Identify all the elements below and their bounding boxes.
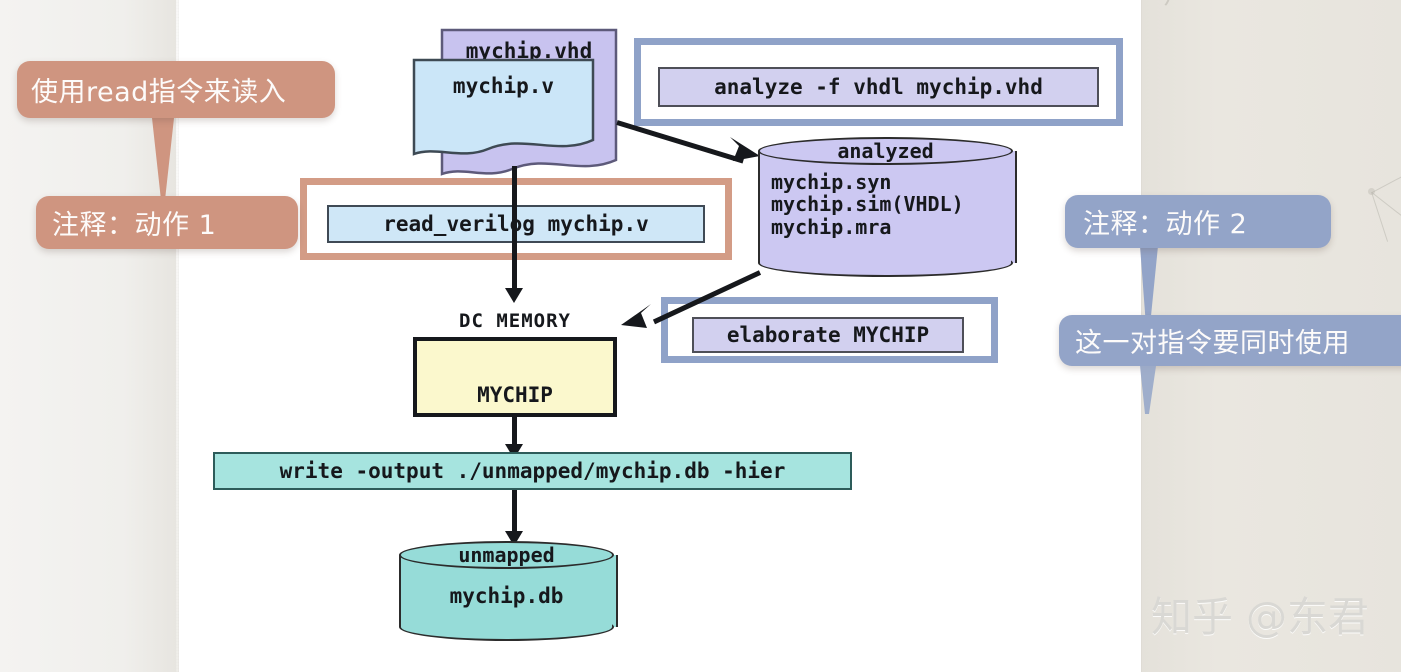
analyzed-database-files: mychip.syn mychip.sim(VHDL) mychip.mra (758, 171, 1026, 238)
annotation-read-instruction-text: 使用read指令来读入 (31, 70, 286, 109)
annotation-pair-usage-text: 这一对指令要同时使用 (1075, 321, 1350, 360)
analyzed-database: analyzed mychip.syn mychip.sim(VHDL) myc… (758, 137, 1013, 277)
cylinder-bottom-mask (401, 611, 612, 627)
analyzed-database-title: analyzed (758, 139, 1013, 163)
annotation-pair-usage[interactable]: 这一对指令要同时使用 (1059, 315, 1401, 366)
analyze-command-frame[interactable]: analyze -f vhdl mychip.vhd (634, 38, 1123, 126)
watermark: 知乎 @东君 (1151, 583, 1369, 643)
screenshot-root: mychip.vhd mychip.v analyze -f vhdl mych… (0, 0, 1401, 672)
annotation-action-1-text: 注释：动作 1 (52, 203, 216, 242)
callout-tail-pair-usage (1136, 366, 1160, 414)
arrow-line-read-to-memory (512, 166, 517, 292)
arrowhead-icon (505, 288, 523, 303)
arrow-analyze-to-analyzed (616, 120, 744, 163)
annotation-action-2-text: 注释：动作 2 (1083, 202, 1247, 241)
elaborate-command-box[interactable]: elaborate MYCHIP (692, 317, 964, 353)
db-file-line: mychip.syn (771, 171, 1026, 193)
write-command-text: write -output ./unmapped/mychip.db -hier (280, 459, 786, 483)
write-command-box[interactable]: write -output ./unmapped/mychip.db -hier (213, 452, 852, 490)
unmapped-database-files: mychip.db (399, 585, 614, 609)
db-file-line: mychip.sim(VHDL) (771, 193, 1026, 215)
document-mychip-v: mychip.v (412, 58, 595, 170)
elaborate-command-text: elaborate MYCHIP (727, 323, 929, 347)
watermark-text: 知乎 @东君 (1151, 593, 1369, 641)
dc-memory-caption: DC MEMORY (400, 310, 630, 332)
analyze-command-box[interactable]: analyze -f vhdl mychip.vhd (658, 67, 1099, 107)
document-label: mychip.v (412, 74, 595, 98)
callout-tail-action-2 (1136, 246, 1162, 326)
mychip-memory-label: MYCHIP (417, 383, 613, 407)
annotation-action-1[interactable]: 注释：动作 1 (36, 196, 298, 249)
db-file-line: mychip.db (399, 585, 614, 609)
db-file-line: mychip.mra (771, 216, 1026, 238)
callout-tail-read-instruction (146, 118, 180, 200)
unmapped-database: unmapped mychip.db (399, 541, 614, 641)
analyze-command-text: analyze -f vhdl mychip.vhd (714, 75, 1043, 99)
cylinder-bottom-mask (760, 247, 1011, 263)
mychip-memory-box: MYCHIP (413, 337, 617, 417)
dc-memory-caption-text: DC MEMORY (459, 310, 571, 332)
arrowhead-icon (728, 137, 762, 169)
unmapped-database-title: unmapped (399, 543, 614, 567)
annotation-action-2[interactable]: 注释：动作 2 (1065, 195, 1331, 248)
elaborate-command-frame[interactable]: elaborate MYCHIP (661, 297, 998, 363)
annotation-read-instruction[interactable]: 使用read指令来读入 (17, 61, 335, 118)
